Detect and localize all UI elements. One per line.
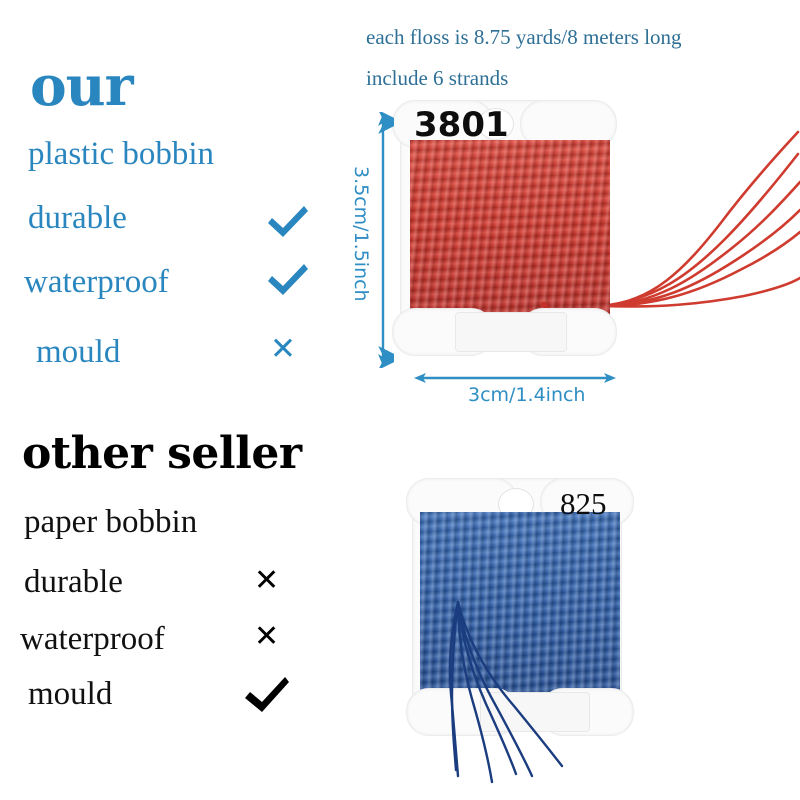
other-row-waterproof-cross-icon: ✕ — [254, 622, 279, 652]
our-row-durable-label: durable — [28, 202, 127, 235]
red-bobbin-number: 3801 — [414, 108, 509, 142]
our-subtitle-row: plastic bobbin — [0, 132, 330, 176]
other-seller-heading: other seller — [22, 432, 302, 476]
blue-bobbin-number: 825 — [560, 488, 607, 519]
other-row-durable: durable — [0, 560, 330, 604]
other-subtitle: paper bobbin — [24, 506, 197, 539]
other-row-mould-check-icon — [243, 676, 291, 714]
our-heading: our — [30, 58, 133, 113]
our-row-mould-cross-icon: ✕ — [270, 334, 296, 365]
our-row-waterproof-check-icon — [266, 262, 310, 298]
other-row-mould-label: mould — [28, 678, 112, 711]
other-row-durable-cross-icon: ✕ — [254, 566, 279, 596]
red-strand-fan-icon — [592, 120, 800, 310]
caption-strand-count: include 6 strands — [366, 68, 508, 89]
caption-floss-length: each floss is 8.75 yards/8 meters long — [366, 27, 682, 48]
other-subtitle-row: paper bobbin — [0, 500, 330, 544]
width-dimension-label: 3cm/1.4inch — [468, 386, 585, 405]
red-bobbin-bottom-slot — [455, 312, 567, 352]
our-subtitle: plastic bobbin — [28, 138, 214, 171]
other-row-waterproof: waterproof — [0, 617, 330, 661]
other-row-waterproof-label: waterproof — [20, 623, 165, 656]
our-row-durable-check-icon — [266, 204, 310, 240]
our-row-waterproof-label: waterproof — [24, 266, 169, 299]
product-comparison-infographic: each floss is 8.75 yards/8 meters long i… — [0, 0, 800, 800]
height-dimension-arrow-icon — [372, 112, 394, 368]
our-row-mould-label: mould — [36, 336, 120, 369]
other-row-durable-label: durable — [24, 566, 123, 599]
height-dimension-label: 3.5cm/1.5inch — [351, 166, 370, 302]
blue-strand-fan-icon — [432, 600, 612, 800]
red-thread-body — [410, 140, 610, 325]
